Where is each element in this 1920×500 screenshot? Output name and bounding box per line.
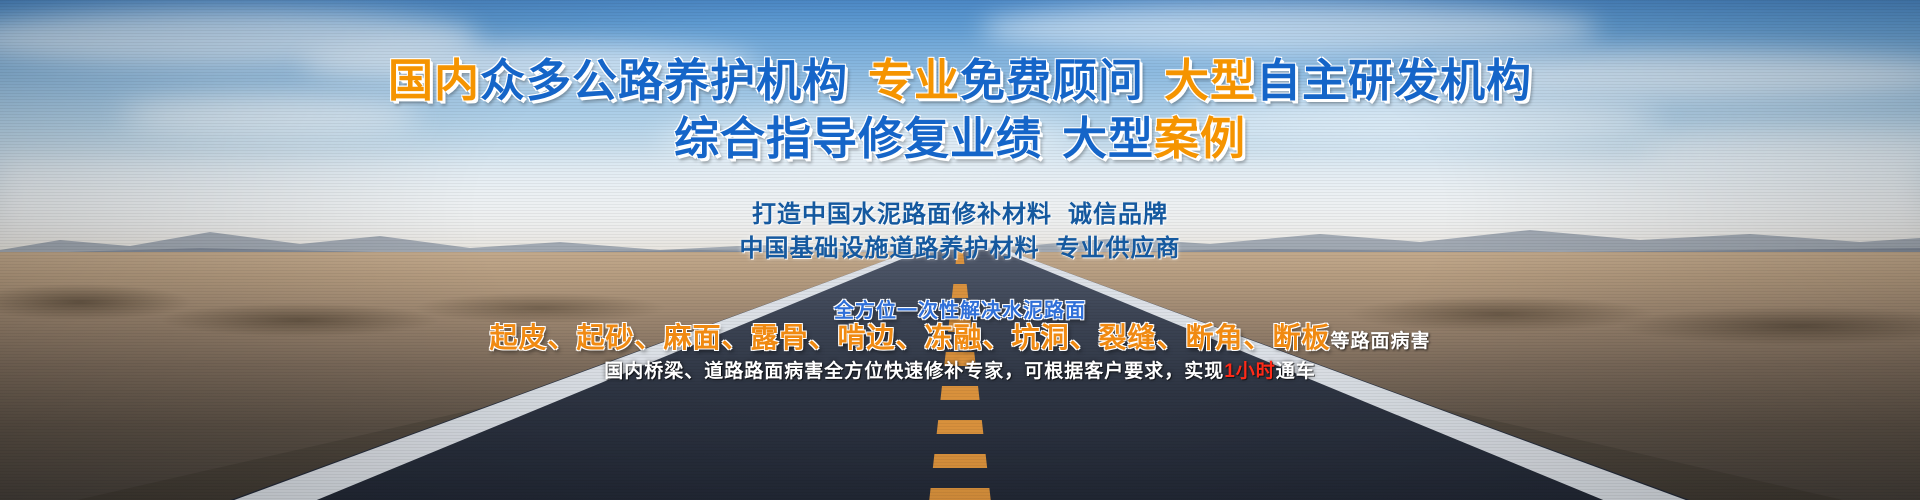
banner-copy: 国内众多公路养护机构专业免费顾问大型自主研发机构 综合指导修复业绩大型案例 打造…	[0, 0, 1920, 500]
headline-1-seg-3: 专业	[868, 55, 960, 106]
bottom-3-pre: 国内桥梁、道路路面病害全方位快速修补专家，可根据客户要求，实现	[604, 361, 1224, 382]
bottom-line-2: 起皮、起砂、麻面、露骨、啃边、冻融、坑洞、裂缝、断角、断板等路面病害	[0, 316, 1920, 356]
subhead-line-2: 中国基础设施道路养护材料专业供应商	[0, 228, 1920, 263]
headline-2-seg-1: 综合指导修复业绩	[674, 113, 1042, 164]
headline-1-seg-5: 大型	[1164, 55, 1256, 106]
subhead-2-a: 中国基础设施道路养护材料	[740, 235, 1040, 262]
bottom-3-post: 通车	[1276, 361, 1316, 382]
headline-1-seg-1: 国内	[388, 55, 480, 106]
headline-line-2: 综合指导修复业绩大型案例	[0, 102, 1920, 167]
headline-1-seg-2: 众多公路养护机构	[480, 55, 848, 106]
bottom-3-highlight: 1小时	[1224, 361, 1276, 382]
headline-1-seg-6: 自主研发机构	[1256, 55, 1532, 106]
headline-2-seg-2: 大型	[1062, 113, 1154, 164]
subhead-1-b: 诚信品牌	[1068, 201, 1168, 228]
headline-line-1: 国内众多公路养护机构专业免费顾问大型自主研发机构	[0, 44, 1920, 109]
headline-1-seg-4: 免费顾问	[960, 55, 1144, 106]
defect-list-suffix: 等路面病害	[1331, 331, 1431, 352]
bottom-line-3: 国内桥梁、道路路面病害全方位快速修补专家，可根据客户要求，实现1小时通车	[0, 356, 1920, 383]
subhead-2-b: 专业供应商	[1056, 235, 1181, 262]
headline-2-seg-3: 案例	[1154, 113, 1246, 164]
defect-list: 起皮、起砂、麻面、露骨、啃边、冻融、坑洞、裂缝、断角、断板	[489, 322, 1330, 353]
promo-banner: 国内众多公路养护机构专业免费顾问大型自主研发机构 综合指导修复业绩大型案例 打造…	[0, 0, 1920, 500]
subhead-1-a: 打造中国水泥路面修补材料	[752, 201, 1052, 228]
subhead-line-1: 打造中国水泥路面修补材料诚信品牌	[0, 194, 1920, 229]
